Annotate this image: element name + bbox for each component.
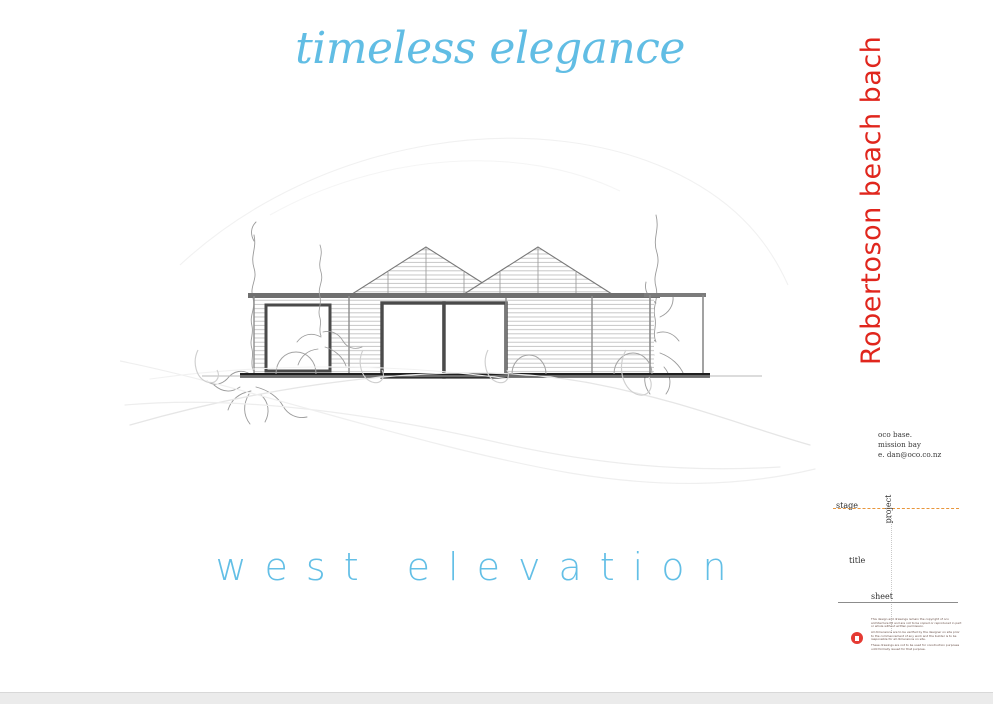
landscape-sweep-curves	[120, 361, 815, 483]
title-block-label-sheet: sheet	[871, 592, 893, 601]
building-elevation	[202, 247, 762, 378]
window-opening-centre	[382, 303, 506, 377]
title-block-vertical-divider	[891, 515, 892, 633]
office-address-line-1: oco base.	[878, 430, 941, 440]
logo-inner-shape	[855, 636, 859, 641]
drawing-sheet: timeless elegance	[0, 0, 993, 704]
office-address-line-3: e. dan@oco.co.nz	[878, 450, 941, 460]
disclaimer-paragraph-1: This design and drawings remain the copy…	[871, 618, 963, 629]
oco-logo-icon	[851, 632, 863, 644]
page-bottom-edge	[0, 692, 993, 704]
window-opening-left	[266, 305, 330, 371]
office-address: oco base. mission bay e. dan@oco.co.nz	[878, 430, 941, 460]
disclaimer-paragraph-3: These drawings are not to be used for co…	[871, 644, 963, 651]
title-block-label-title: title	[849, 556, 865, 565]
title-block-label-stage: stage	[836, 501, 858, 510]
elevation-drawing	[120, 95, 820, 495]
disclaimer-paragraph-2: All dimensions are to be verified by the…	[871, 631, 963, 642]
page-headline: timeless elegance	[250, 22, 730, 76]
disclaimer-text: This design and drawings remain the copy…	[871, 618, 963, 653]
sheet-divider-rule	[838, 602, 958, 603]
sky-contour-lines	[180, 138, 788, 285]
title-block: oco base. mission bay e. dan@oco.co.nz s…	[830, 425, 980, 665]
office-address-line-2: mission bay	[878, 440, 941, 450]
sheet-caption: west elevation	[150, 545, 810, 589]
project-name-vertical: Robertoson beach bach	[856, 65, 896, 365]
